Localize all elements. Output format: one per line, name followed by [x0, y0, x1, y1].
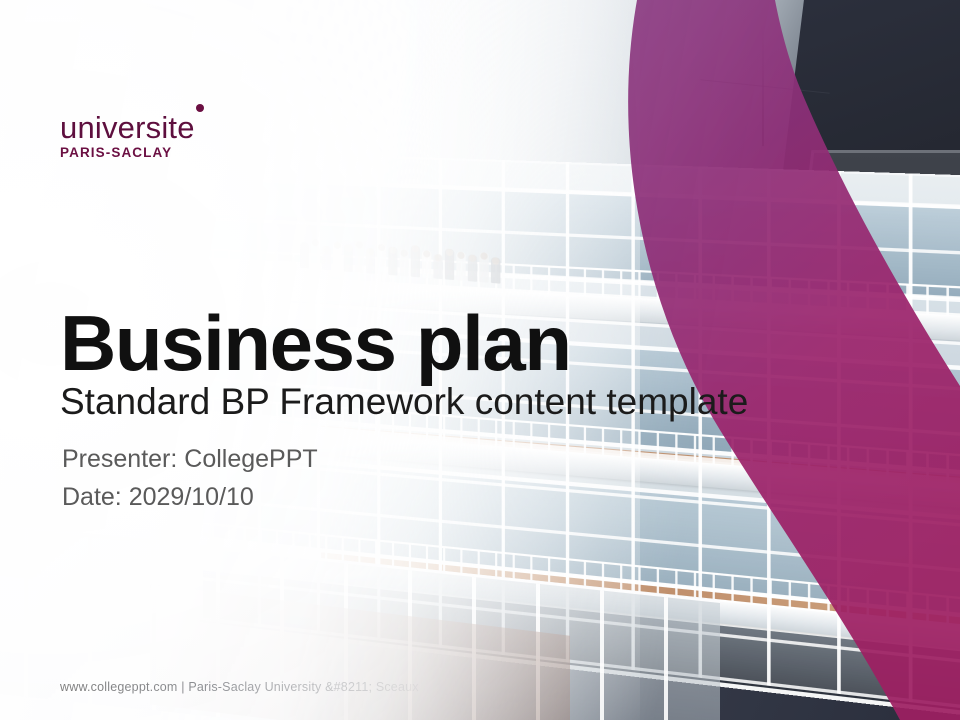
slide-content: universite PARIS-SACLAY Business plan St… [0, 0, 960, 720]
logo-wordmark: universite [60, 112, 195, 143]
slide-footer: www.collegeppt.com | Paris-Saclay Univer… [60, 680, 419, 694]
logo-subtitle: PARIS-SACLAY [60, 146, 195, 160]
footer-text: www.collegeppt.com | Paris-Saclay Univer… [60, 680, 419, 694]
presentation-slide: universite PARIS-SACLAY Business plan St… [0, 0, 960, 720]
university-logo: universite PARIS-SACLAY [60, 112, 195, 160]
date-line: Date: 2029/10/10 [62, 478, 318, 516]
slide-meta: Presenter: CollegePPT Date: 2029/10/10 [62, 440, 318, 516]
slide-subtitle: Standard BP Framework content template [60, 381, 748, 424]
logo-dot-icon [196, 104, 204, 112]
presenter-line: Presenter: CollegePPT [62, 440, 318, 478]
slide-title: Business plan [60, 304, 571, 382]
